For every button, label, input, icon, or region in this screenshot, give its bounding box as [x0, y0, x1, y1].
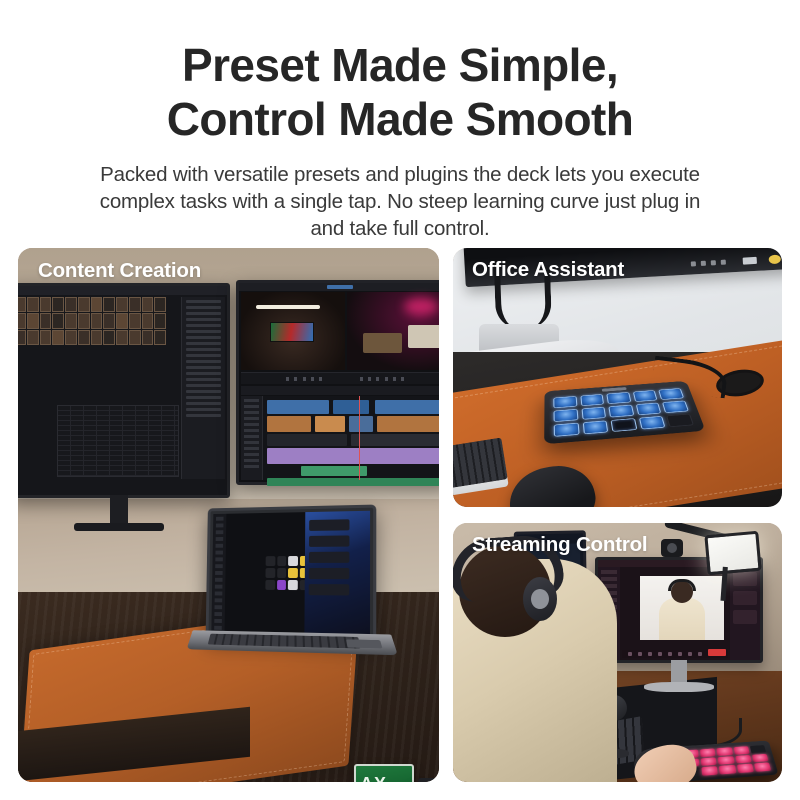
page-title: Preset Made Simple, Control Made Smooth — [0, 38, 800, 147]
deck-key-grid[interactable] — [683, 745, 771, 777]
green-box-label: AX — [360, 774, 387, 782]
card-label-streaming-control: Streaming Control — [472, 533, 647, 557]
card-label-content-creation: Content Creation — [38, 259, 201, 283]
monitor-base — [644, 682, 714, 692]
right-monitor — [236, 280, 439, 485]
metadata-table — [57, 405, 179, 477]
deck-logo — [602, 387, 627, 392]
deck-key-grid[interactable] — [553, 388, 694, 437]
record-indicator — [708, 649, 726, 656]
laptop-lid — [206, 505, 377, 641]
led-panel-light — [704, 531, 761, 576]
timeline-tracks — [241, 396, 439, 480]
card-streaming-control[interactable]: Streaming Control — [453, 523, 782, 782]
weather-icon — [769, 255, 781, 265]
content-creation-photo: AX — [18, 248, 439, 782]
green-product-box: AX — [354, 764, 414, 782]
office-assistant-photo — [453, 248, 782, 507]
subtitle-line-1: Packed with versatile presets and plugin… — [43, 161, 757, 188]
monitor-stand — [110, 495, 128, 525]
card-content-creation[interactable]: AX — [18, 248, 439, 782]
headline-line-1: Preset Made Simple, — [0, 38, 800, 92]
subtitle-line-3: and take full control. — [43, 215, 757, 242]
timeline-ruler — [241, 386, 439, 395]
laptop-side-window — [304, 511, 370, 634]
media-thumbnail-grid — [18, 297, 166, 345]
laptop-screen — [211, 511, 370, 634]
streamer-on-camera — [659, 598, 705, 640]
card-office-assistant[interactable]: Office Assistant — [453, 248, 782, 507]
editor-toolbar — [239, 283, 439, 291]
monitor-base — [74, 523, 164, 531]
use-case-card-grid: AX — [18, 248, 782, 782]
headphone-earcup — [523, 577, 557, 621]
page-subtitle: Packed with versatile presets and plugin… — [43, 161, 757, 243]
obs-monitor — [595, 557, 763, 663]
monitor-menubar — [18, 286, 227, 295]
obs-preview — [640, 576, 724, 640]
headline-line-2: Control Made Smooth — [0, 92, 800, 146]
transport-controls — [241, 372, 439, 384]
laptop — [206, 505, 377, 641]
left-monitor — [18, 283, 230, 498]
card-label-office-assistant: Office Assistant — [472, 258, 624, 282]
source-preview — [241, 292, 345, 370]
webcam — [661, 539, 683, 557]
subtitle-line-2: complex tasks with a single tap. No stee… — [43, 188, 757, 215]
inspector-panel — [181, 297, 225, 479]
header: Preset Made Simple, Control Made Smooth … — [0, 0, 800, 242]
streaming-control-photo — [453, 523, 782, 782]
system-tray — [687, 254, 782, 268]
obs-controls-panel — [730, 567, 760, 660]
program-preview — [347, 292, 439, 370]
